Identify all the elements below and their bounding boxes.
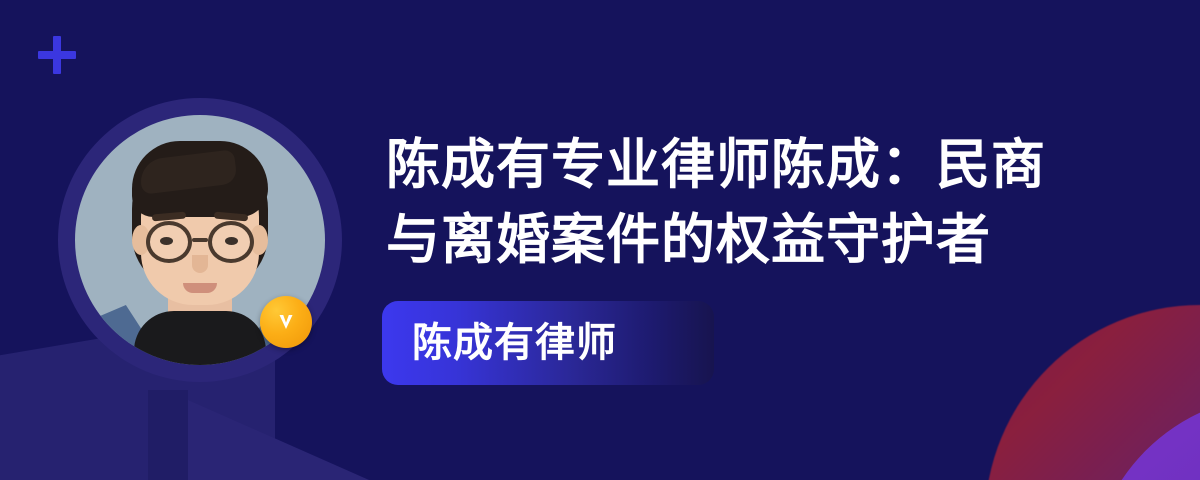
plus-icon (38, 36, 76, 74)
verified-v-icon (260, 296, 312, 348)
portrait-glasses-bridge (192, 238, 208, 242)
page-title: 陈成有专业律师陈成：民商与离婚案件的权益守护者 (386, 128, 1086, 278)
lawyer-name-label: 陈成有律师 (412, 323, 617, 363)
column-shape (148, 390, 188, 480)
portrait-mouth (183, 283, 217, 293)
portrait-glasses-left-lens (146, 221, 192, 263)
portrait-glasses-right-lens (208, 221, 254, 263)
portrait-nose (192, 255, 208, 273)
lawyer-name-badge[interactable]: 陈成有律师 (382, 301, 714, 385)
lawyer-profile-banner: 陈成有专业律师陈成：民商与离婚案件的权益守护者 陈成有律师 (0, 0, 1200, 480)
portrait-shirt (134, 311, 266, 365)
